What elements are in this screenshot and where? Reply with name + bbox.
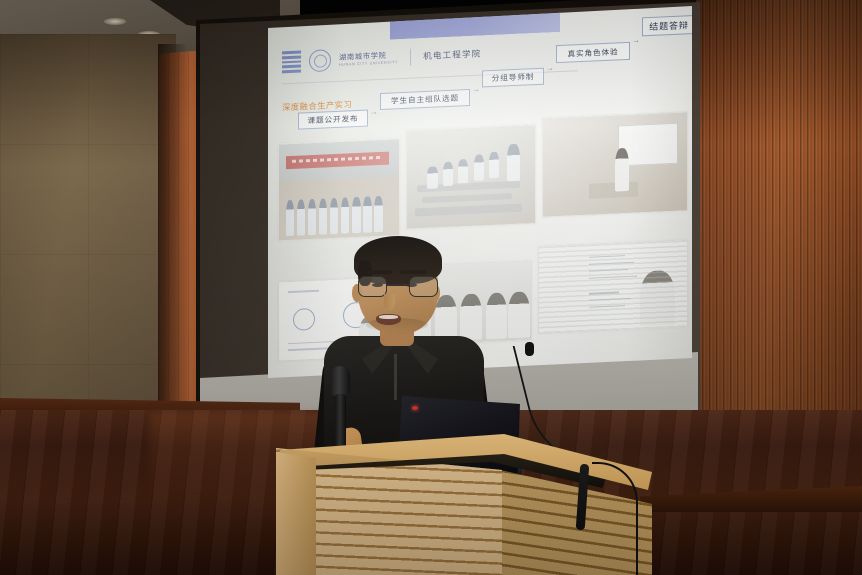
slide-photo-row-top — [276, 111, 686, 249]
presenter-eyebrow — [366, 270, 392, 274]
hanging-cable — [592, 462, 638, 575]
photo-window-blind — [539, 240, 687, 333]
presenter-nose — [384, 294, 395, 311]
flow-arrow-icon: → — [472, 85, 480, 94]
slide-flow-chart: 课题公开发布 → 学生自主组队选题 → 分组导师制 → 真实角色体验 → 结题答… — [276, 6, 686, 132]
slide-photo — [542, 111, 688, 218]
ceiling-downlight-icon — [104, 18, 126, 25]
flow-step-box: 分组导师制 — [482, 68, 544, 88]
flow-step-box: 真实角色体验 — [556, 42, 630, 63]
photo-meeting-room — [543, 112, 687, 216]
presenter-shirt-placket — [394, 354, 397, 400]
flow-step-box: 结题答辩 — [642, 15, 692, 36]
slide-photo — [278, 138, 400, 241]
photo-person — [615, 148, 629, 192]
photo-student-presenting — [539, 240, 687, 333]
photo-people-row — [284, 187, 394, 236]
flow-step-box: 学生自主组队选题 — [380, 89, 470, 110]
presenter-mouth-speaking — [376, 314, 401, 325]
slide-photo — [406, 124, 536, 230]
photo-classroom-workshop — [407, 125, 535, 229]
podium-left-edge — [276, 452, 316, 575]
microphone-head — [330, 366, 350, 396]
flow-arrow-icon: → — [632, 35, 640, 44]
photo-group-storefront — [279, 139, 399, 240]
presenter-eyebrow — [400, 270, 426, 274]
slide-photo — [538, 239, 688, 334]
flow-arrow-icon: → — [370, 107, 378, 116]
laptop-power-led — [412, 406, 418, 410]
wood-column-shadow — [158, 44, 188, 420]
flow-arrow-icon: → — [546, 63, 554, 72]
left-wall-shading — [0, 34, 176, 414]
photo-desk — [589, 181, 638, 199]
lecture-hall-photo: 湖南城市学院 HUNAN CITY UNIVERSITY 机电工程学院 深度融合… — [0, 0, 862, 575]
photo-red-banner — [286, 152, 389, 169]
gooseneck-capsule — [525, 342, 534, 356]
eyeglasses-icon — [358, 276, 438, 298]
